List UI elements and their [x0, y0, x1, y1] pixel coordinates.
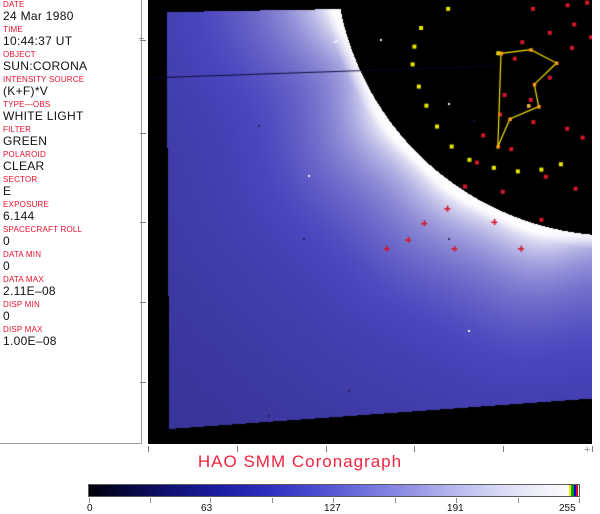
coronagraph-canvas — [148, 0, 592, 444]
header-field-value: 24 Mar 1980 — [3, 9, 141, 23]
header-field: DATA MAX2.11E‒08 — [0, 275, 141, 298]
header-field: DISP MAX1.00E‒08 — [0, 325, 141, 348]
header-field-key: POLAROID — [3, 150, 141, 159]
colorbar-tick-label: 255 — [559, 503, 576, 514]
header-field-value: (K+F)*V — [3, 84, 141, 98]
y-axis-tick — [140, 382, 146, 383]
colorbar-tick-label: 127 — [324, 503, 341, 514]
coronagraph-image[interactable] — [148, 0, 592, 444]
header-field-value: 6.144 — [3, 209, 141, 223]
header-field: OBJECTSUN:CORONA — [0, 50, 141, 73]
header-field: TYPE—OBSWHITE LIGHT — [0, 100, 141, 123]
header-field-key: DATE — [3, 0, 141, 9]
header-field: DATA MIN0 — [0, 250, 141, 273]
header-field: SPACECRAFT ROLL0 — [0, 225, 141, 248]
header-field-value: SUN:CORONA — [3, 59, 141, 73]
colorbar-track — [88, 484, 580, 497]
header-field-value: 0 — [3, 259, 141, 273]
red-band — [576, 485, 578, 496]
header-field-value: 0 — [3, 234, 141, 248]
header-field-key: TYPE—OBS — [3, 100, 141, 109]
header-field-key: TIME — [3, 25, 141, 34]
header-field-key: SECTOR — [3, 175, 141, 184]
header-field-value: 1.00E‒08 — [3, 334, 141, 348]
colorbar-tick — [150, 498, 151, 503]
intensity-colorbar[interactable]: 063127191255 — [88, 484, 580, 512]
y-axis-tick — [140, 133, 146, 134]
colorbar-tick — [272, 498, 273, 503]
colorbar-tick — [579, 498, 580, 503]
coronagraph-viewer: DATE24 Mar 1980TIME10:44:37 UTOBJECTSUN:… — [0, 0, 600, 512]
header-field-key: DATA MAX — [3, 275, 141, 284]
header-field-key: DISP MIN — [3, 300, 141, 309]
crosshair-left-icon: + — [138, 34, 144, 45]
colorbar-tick-label: 191 — [447, 503, 464, 514]
colorbar-gradient — [89, 485, 579, 496]
header-field-key: EXPOSURE — [3, 200, 141, 209]
header-field: SECTORE — [0, 175, 141, 198]
header-field: DISP MIN0 — [0, 300, 141, 323]
header-field-key: INTENSITY SOURCE — [3, 75, 141, 84]
header-field: TIME10:44:37 UT — [0, 25, 141, 48]
header-field-value: CLEAR — [3, 159, 141, 173]
header-field: FILTERGREEN — [0, 125, 141, 148]
colorbar-tick — [395, 498, 396, 503]
header-field-value: 2.11E‒08 — [3, 284, 141, 298]
header-field: INTENSITY SOURCE(K+F)*V — [0, 75, 141, 98]
header-field-key: OBJECT — [3, 50, 141, 59]
header-field-value: GREEN — [3, 134, 141, 148]
header-field-key: SPACECRAFT ROLL — [3, 225, 141, 234]
header-field-value: WHITE LIGHT — [3, 109, 141, 123]
figure-caption: HAO SMM Coronagraph — [0, 452, 600, 472]
header-field-key: DATA MIN — [3, 250, 141, 259]
header-field: EXPOSURE6.144 — [0, 200, 141, 223]
header-field: DATE24 Mar 1980 — [0, 0, 141, 23]
colorbar-tick-label: 63 — [201, 503, 212, 514]
header-field-value: 0 — [3, 309, 141, 323]
header-field: POLAROIDCLEAR — [0, 150, 141, 173]
header-field-key: DISP MAX — [3, 325, 141, 334]
header-field-key: FILTER — [3, 125, 141, 134]
colorbar-tick-label: 0 — [87, 503, 93, 514]
y-axis-tick — [140, 222, 146, 223]
fits-header-panel: DATE24 Mar 1980TIME10:44:37 UTOBJECTSUN:… — [0, 0, 142, 444]
y-axis-tick — [140, 302, 146, 303]
header-field-value: 10:44:37 UT — [3, 34, 141, 48]
colorbar-tick — [518, 498, 519, 503]
header-field-value: E — [3, 184, 141, 198]
